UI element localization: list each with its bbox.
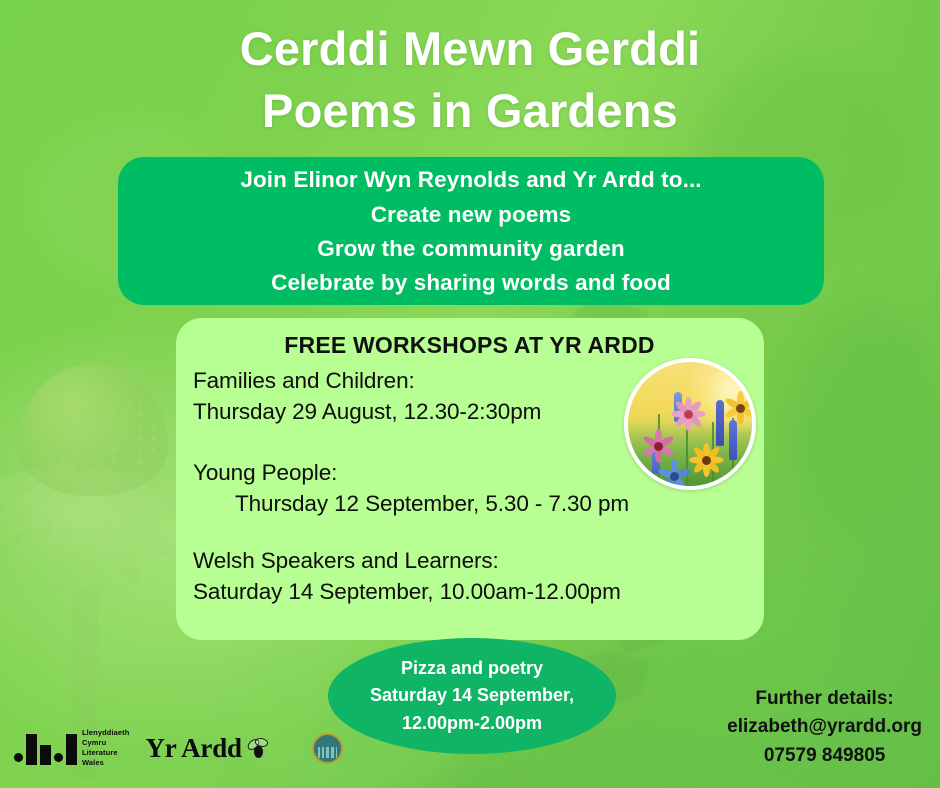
lw-word-3: Literature xyxy=(82,748,129,758)
workshops-panel: FREE WORKSHOPS AT YR ARDD xyxy=(176,318,764,640)
callout-line-4: Celebrate by sharing words and food xyxy=(271,266,671,300)
callout-line-1: Join Elinor Wyn Reynolds and Yr Ardd to.… xyxy=(240,163,701,197)
partner-emblem-icon xyxy=(312,733,343,764)
workshop-audience: Families and Children: xyxy=(193,365,746,396)
workshops-heading: FREE WORKSHOPS AT YR ARDD xyxy=(193,332,746,359)
pizza-line-3: 12.00pm-2.00pm xyxy=(402,710,542,737)
literature-wales-logo: Llenyddiaeth Cymru Literature Wales xyxy=(14,728,129,769)
spacer xyxy=(193,519,746,545)
contact-details: Further details: elizabeth@yrardd.org 07… xyxy=(727,685,922,771)
yr-ardd-logo: Yr Ardd xyxy=(145,733,268,764)
poster: Cerddi Mewn Gerddi Poems in Gardens Join… xyxy=(0,0,940,788)
callout-line-2: Create new poems xyxy=(371,198,571,232)
logo-strip: Llenyddiaeth Cymru Literature Wales Yr A… xyxy=(14,720,365,776)
lw-word-2: Cymru xyxy=(82,738,129,748)
workshop-group-young-people: Young People: Thursday 12 September, 5.3… xyxy=(193,457,746,519)
contact-phone[interactable]: 07579 849805 xyxy=(727,742,922,771)
pizza-and-poetry-badge: Pizza and poetry Saturday 14 September, … xyxy=(328,638,616,754)
title-line-welsh: Cerddi Mewn Gerddi xyxy=(0,18,940,80)
workshop-datetime: Saturday 14 September, 10.00am-12.00pm xyxy=(193,576,746,607)
literature-wales-mark-icon xyxy=(14,731,77,765)
workshop-audience: Young People: xyxy=(193,457,746,488)
literature-wales-wordmark: Llenyddiaeth Cymru Literature Wales xyxy=(82,728,129,769)
poster-title: Cerddi Mewn Gerddi Poems in Gardens xyxy=(0,18,940,142)
invitation-callout: Join Elinor Wyn Reynolds and Yr Ardd to.… xyxy=(118,157,824,305)
pizza-line-2: Saturday 14 September, xyxy=(370,682,574,709)
lw-word-4: Wales xyxy=(82,758,129,768)
lw-word-1: Llenyddiaeth xyxy=(82,728,129,738)
yr-ardd-wordmark: Yr Ardd xyxy=(145,733,241,764)
contact-heading: Further details: xyxy=(727,685,922,714)
pizza-line-1: Pizza and poetry xyxy=(401,655,543,682)
workshop-group-welsh: Welsh Speakers and Learners: Saturday 14… xyxy=(193,545,746,607)
title-line-english: Poems in Gardens xyxy=(0,80,940,142)
partner-emblem-logo xyxy=(291,722,365,774)
workshop-datetime: Thursday 12 September, 5.30 - 7.30 pm xyxy=(193,488,746,519)
workshop-datetime: Thursday 29 August, 12.30-2:30pm xyxy=(193,396,746,427)
workshop-audience: Welsh Speakers and Learners: xyxy=(193,545,746,576)
bee-icon xyxy=(243,735,269,761)
callout-line-3: Grow the community garden xyxy=(317,232,625,266)
workshop-group-families: Families and Children: Thursday 29 Augus… xyxy=(193,365,746,427)
contact-email[interactable]: elizabeth@yrardd.org xyxy=(727,713,922,742)
